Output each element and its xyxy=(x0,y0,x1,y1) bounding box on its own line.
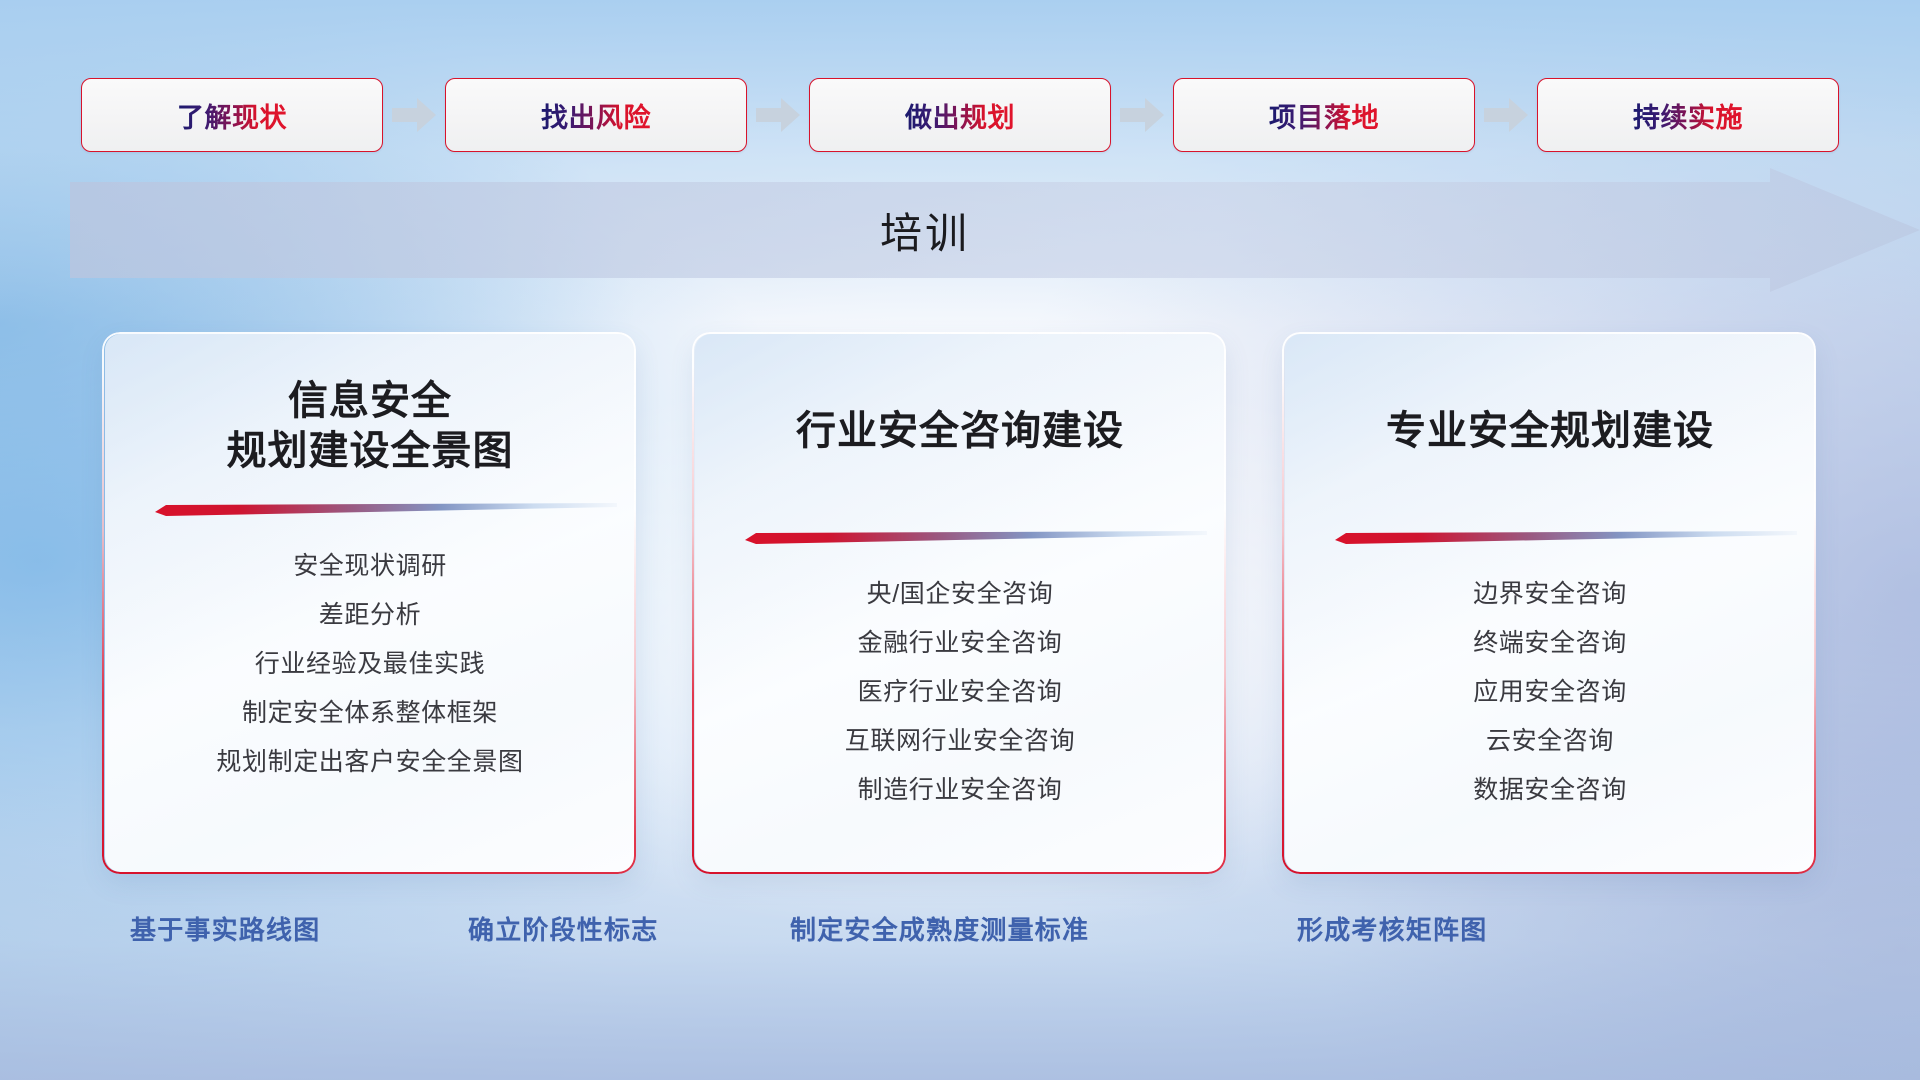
list-item: 终端安全咨询 xyxy=(1319,628,1781,658)
list-item: 央/国企安全咨询 xyxy=(729,579,1191,609)
caption-maturity-standard: 制定安全成熟度测量标准 xyxy=(790,910,1089,947)
card-information-security-blueprint[interactable]: 信息安全 规划建设全景图 xyxy=(105,334,635,872)
card-body: 行业安全咨询建设 xyxy=(695,334,1225,805)
process-step-flow: 了解现状 找出风险 做出规划 项目落地 持续实施 xyxy=(0,76,1920,154)
caption-phase-milestones: 确立阶段性标志 xyxy=(468,910,658,947)
caption-fact-roadmap: 基于事实路线图 xyxy=(130,910,320,947)
card-professional-security-planning[interactable]: 专业安全规划建设 xyxy=(1285,334,1815,872)
list-item: 制造行业安全咨询 xyxy=(729,775,1191,805)
list-item: 规划制定出客户安全全景图 xyxy=(139,747,601,777)
step-pill-5[interactable]: 持续实施 xyxy=(1537,78,1839,152)
card-industry-security-consulting[interactable]: 行业安全咨询建设 xyxy=(695,334,1225,872)
step-label-1: 了解现状 xyxy=(177,96,287,135)
card-divider xyxy=(1335,531,1765,545)
caption-assessment-matrix: 形成考核矩阵图 xyxy=(1297,910,1487,947)
card-item-list: 边界安全咨询 终端安全咨询 应用安全咨询 云安全咨询 数据安全咨询 xyxy=(1319,579,1781,805)
card-title-line-1: 专业安全规划建设 xyxy=(1319,406,1781,456)
card-body: 信息安全 规划建设全景图 xyxy=(105,334,635,777)
list-item: 数据安全咨询 xyxy=(1319,775,1781,805)
list-item: 金融行业安全咨询 xyxy=(729,628,1191,658)
list-item: 制定安全体系整体框架 xyxy=(139,698,601,728)
step-label-3: 做出规划 xyxy=(905,96,1015,135)
step-pill-3[interactable]: 做出规划 xyxy=(809,78,1111,152)
card-item-list: 安全现状调研 差距分析 行业经验及最佳实践 制定安全体系整体框架 规划制定出客户… xyxy=(139,551,601,777)
list-item: 安全现状调研 xyxy=(139,551,601,581)
list-item: 差距分析 xyxy=(139,600,601,630)
step-pill-1[interactable]: 了解现状 xyxy=(81,78,383,152)
card-title-line-2: 规划建设全景图 xyxy=(139,426,601,476)
card-title: 专业安全规划建设 xyxy=(1319,406,1781,456)
chevron-right-arrow-icon xyxy=(383,79,445,151)
caption-row: 基于事实路线图 确立阶段性标志 制定安全成熟度测量标准 形成考核矩阵图 xyxy=(0,910,1920,960)
card-title: 行业安全咨询建设 xyxy=(729,406,1191,456)
step-label-2: 找出风险 xyxy=(541,96,651,135)
step-label-4: 项目落地 xyxy=(1269,96,1379,135)
card-item-list: 央/国企安全咨询 金融行业安全咨询 医疗行业安全咨询 互联网行业安全咨询 制造行… xyxy=(729,579,1191,805)
step-pill-2[interactable]: 找出风险 xyxy=(445,78,747,152)
list-item: 应用安全咨询 xyxy=(1319,677,1781,707)
card-row: 信息安全 规划建设全景图 xyxy=(0,334,1920,874)
card-title: 信息安全 规划建设全景图 xyxy=(139,376,601,477)
card-body: 专业安全规划建设 xyxy=(1285,334,1815,805)
list-item: 医疗行业安全咨询 xyxy=(729,677,1191,707)
card-divider xyxy=(155,503,585,517)
list-item: 边界安全咨询 xyxy=(1319,579,1781,609)
list-item: 云安全咨询 xyxy=(1319,726,1781,756)
training-banner-label: 培训 xyxy=(0,168,1850,292)
card-title-line-1: 行业安全咨询建设 xyxy=(729,406,1191,456)
chevron-right-arrow-icon xyxy=(747,79,809,151)
step-pill-4[interactable]: 项目落地 xyxy=(1173,78,1475,152)
card-divider xyxy=(745,531,1175,545)
list-item: 互联网行业安全咨询 xyxy=(729,726,1191,756)
training-banner: 培训 xyxy=(0,168,1920,292)
chevron-right-arrow-icon xyxy=(1475,79,1537,151)
list-item: 行业经验及最佳实践 xyxy=(139,649,601,679)
step-label-5: 持续实施 xyxy=(1633,96,1743,135)
card-title-line-1: 信息安全 xyxy=(139,376,601,426)
chevron-right-arrow-icon xyxy=(1111,79,1173,151)
